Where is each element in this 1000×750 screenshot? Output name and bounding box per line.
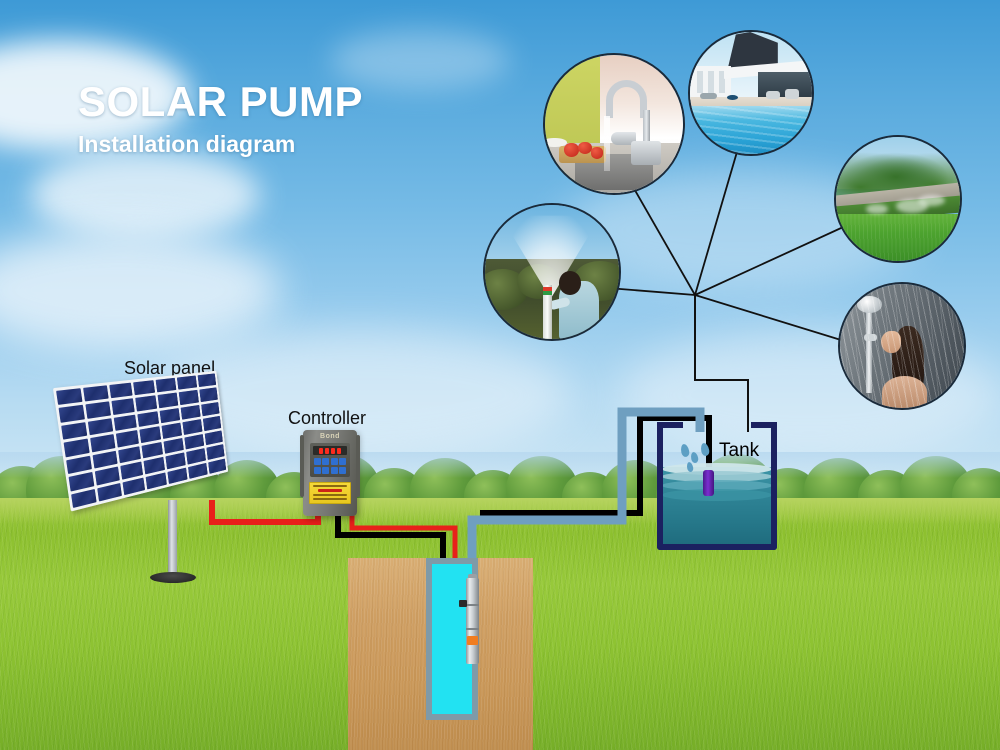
water-tank[interactable] bbox=[657, 422, 777, 550]
pump-label-sticker bbox=[467, 636, 478, 645]
controller-warning-label bbox=[309, 482, 351, 504]
pump-cable-junction bbox=[459, 600, 467, 607]
tank-outline bbox=[657, 422, 777, 550]
tank-rim-left bbox=[657, 422, 683, 428]
solar-pump-controller[interactable]: Bond bbox=[303, 430, 357, 516]
solar-pump-installation-diagram: SOLAR PUMP Installation diagram bbox=[0, 0, 1000, 750]
well-cross-section bbox=[348, 558, 533, 750]
controller-keypad[interactable] bbox=[314, 458, 346, 474]
controller-side-lip-right bbox=[356, 435, 360, 497]
controller-brand-text: Bond bbox=[303, 433, 357, 440]
tank-rim-right bbox=[751, 422, 777, 428]
submersible-pump[interactable] bbox=[466, 578, 479, 664]
controller-led-display bbox=[313, 446, 347, 455]
controller-side-lip-left bbox=[300, 435, 304, 497]
tank-float-switch[interactable] bbox=[703, 470, 714, 496]
controller-front-panel bbox=[310, 443, 350, 477]
